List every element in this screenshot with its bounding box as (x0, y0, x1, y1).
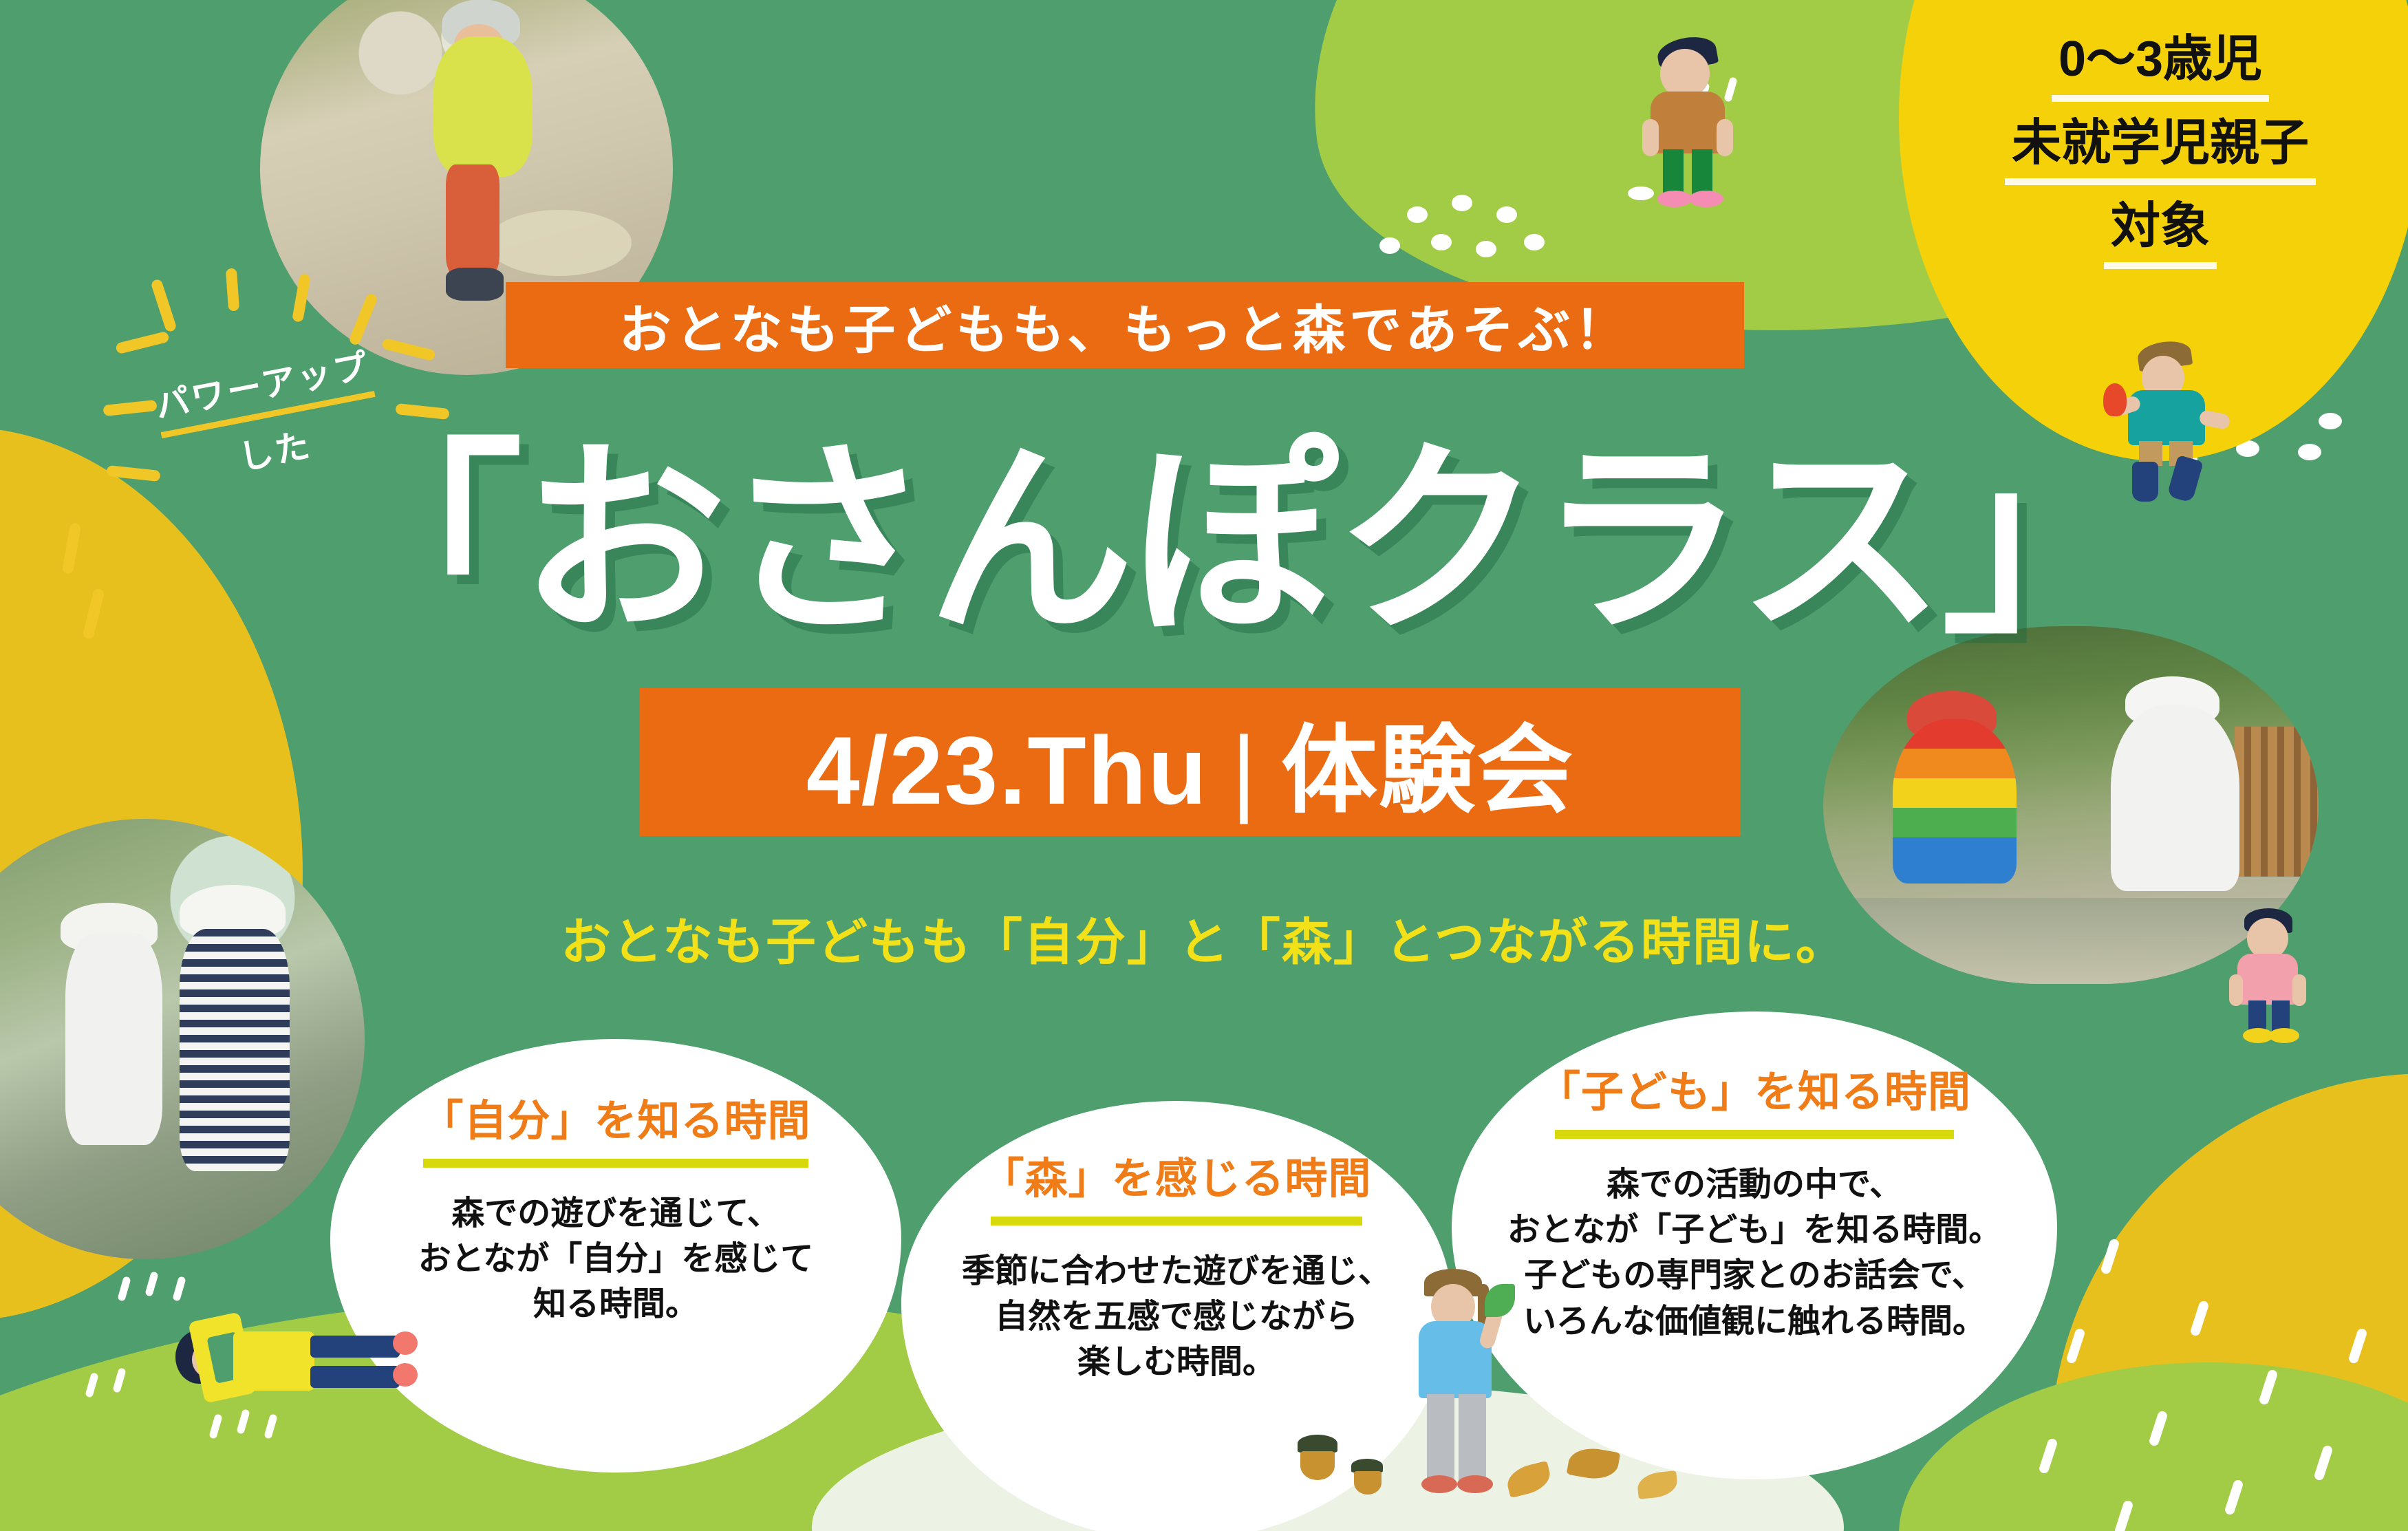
speckle-dash (172, 1276, 186, 1302)
feature-card-underline (991, 1217, 1362, 1225)
decor-dot (1476, 241, 1496, 257)
decor-dot (1379, 237, 1400, 254)
feature-card-underline (1555, 1130, 1954, 1139)
feature-card-underline (423, 1159, 808, 1168)
lying-adult-illustration (175, 1311, 423, 1448)
small-child-illustration (2229, 908, 2319, 1046)
feature-card-body: 季節に合わせた遊びを通じ、 自然を五感で感じながら 楽しむ時間。 (962, 1249, 1391, 1386)
decor-dot (1431, 234, 1452, 250)
decor-dot (2298, 444, 2321, 460)
page-title: 「おさんぽクラス」 (316, 385, 2071, 661)
child-with-toy-illustration (2116, 341, 2253, 499)
feature-card-title: 「子ども」を知る時間 (1538, 1057, 1971, 1119)
decor-dot (1496, 206, 1517, 223)
decor-dot (2319, 413, 2342, 429)
feature-card-body: 森での遊びを通じて、 おとなが「自分」を感じて 知る時間。 (418, 1191, 814, 1328)
subtitle-text: おとなも子どもも「自分」と「森」とつながる時間に。 (0, 901, 2408, 974)
decor-dot (1628, 186, 1654, 200)
feature-card-title: 「森」を感じる時間 (981, 1144, 1371, 1206)
photo-parent-and-child (0, 819, 365, 1259)
badge-line-3: 対象 (2104, 195, 2217, 269)
tagline-banner: おとなも子どもも、もっと森であそぶ！ (506, 282, 1744, 368)
feature-card-title: 「自分」を知る時間 (420, 1086, 810, 1148)
standing-child-illustration (1641, 38, 1751, 196)
badge-line-2: 未就学児親子 (2005, 111, 2316, 186)
tagline-text: おとなも子どもも、もっと森であそぶ！ (506, 282, 1744, 368)
event-date: 4/23.Thu (806, 716, 1208, 824)
event-type: 体験会 (1281, 716, 1574, 824)
decor-dot (1407, 206, 1428, 223)
acorn-illustration (1348, 1459, 1424, 1507)
audience-badge: 0〜3歳児 未就学児親子 対象 (1920, 28, 2401, 269)
poster-canvas: 0〜3歳児 未就学児親子 対象 パワーアップ した おとなも子どもも、もっと森で… (0, 0, 2408, 1531)
date-banner: 4/23.Thu|体験会 (640, 688, 1741, 836)
feature-card-body: 森での活動の中で、 おとなが「子ども」を知る時間。 子どもの専門家とのお話会で、… (1507, 1162, 2002, 1345)
badge-line-1: 0〜3歳児 (2052, 28, 2269, 102)
speckle-dash (117, 1276, 131, 1302)
decor-dot (1452, 195, 1472, 211)
speckle-dash (144, 1271, 158, 1297)
decor-dot (1524, 234, 1545, 250)
date-separator: | (1208, 716, 1281, 824)
